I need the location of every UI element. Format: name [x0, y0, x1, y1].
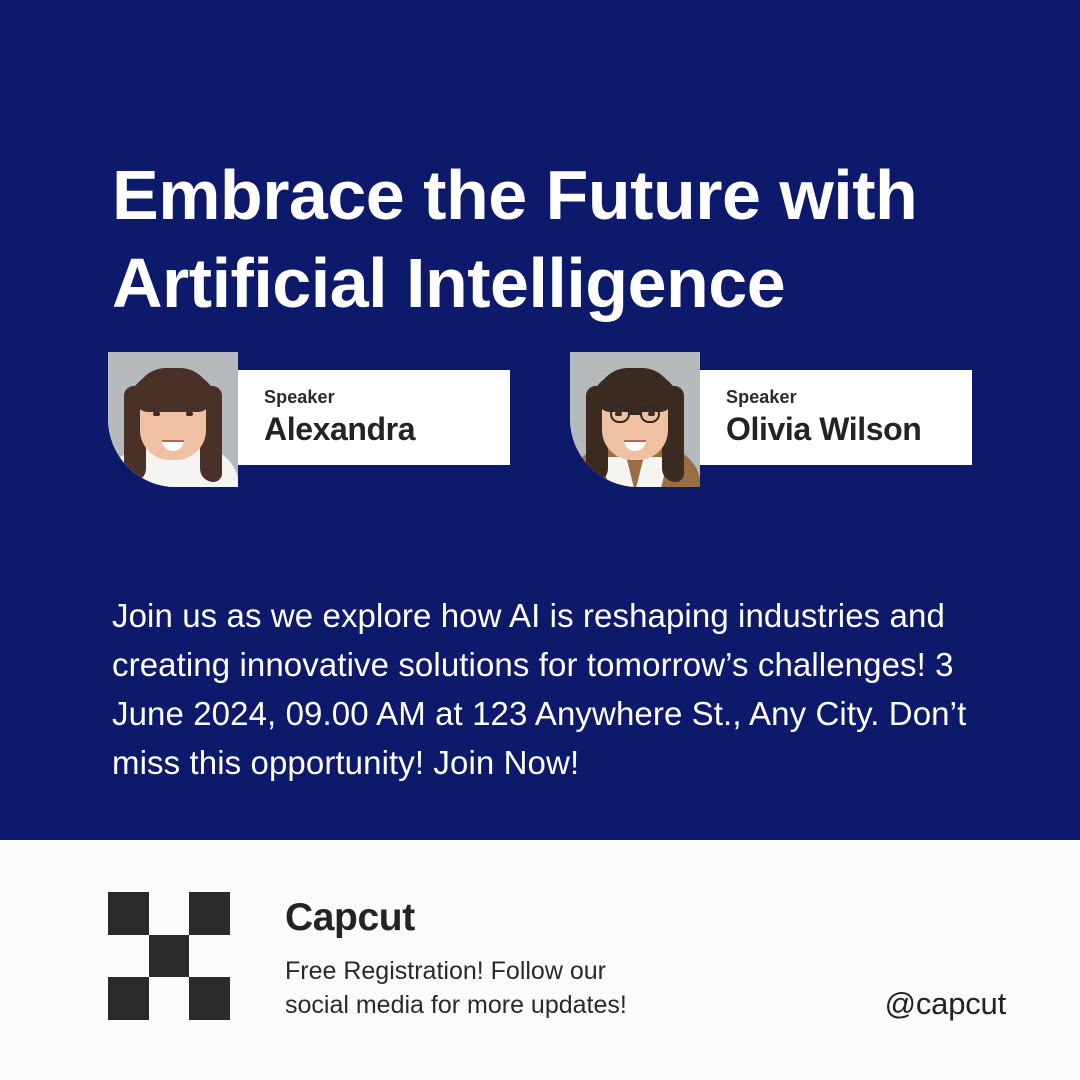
- logo-cell: [108, 977, 149, 1020]
- logo-cell: [189, 977, 230, 1020]
- logo-cell: [189, 935, 230, 978]
- logo-cell: [149, 935, 190, 978]
- speaker-name: Olivia Wilson: [726, 409, 972, 449]
- logo-cell: [149, 977, 190, 1020]
- social-handle[interactable]: @capcut: [885, 985, 1006, 1023]
- logo-cell: [108, 935, 149, 978]
- speaker-name: Alexandra: [264, 409, 510, 449]
- registration-tagline: Free Registration! Follow our social med…: [285, 954, 765, 1022]
- logo-cell: [108, 892, 149, 935]
- glasses-icon: [640, 405, 660, 423]
- portrait-eye-left: [153, 412, 160, 416]
- brand-name: Capcut: [285, 894, 765, 942]
- speaker-card[interactable]: Speaker Olivia Wilson: [570, 352, 972, 488]
- logo-cell: [149, 892, 190, 935]
- portrait-hair-top: [597, 368, 673, 412]
- logo-cell: [189, 892, 230, 935]
- speaker-role-label: Speaker: [726, 386, 972, 408]
- event-poster: Embrace the Future with Artificial Intel…: [0, 0, 1080, 1080]
- speaker-portrait: [108, 352, 238, 487]
- speaker-role-label: Speaker: [264, 386, 510, 408]
- hero-section: Embrace the Future with Artificial Intel…: [0, 0, 1080, 840]
- speaker-card[interactable]: Speaker Alexandra: [108, 352, 510, 488]
- glasses-bridge: [630, 412, 640, 415]
- portrait-hair-top: [135, 368, 211, 412]
- portrait-eye-right: [186, 412, 193, 416]
- glasses-icon: [610, 405, 630, 423]
- speaker-portrait: [570, 352, 700, 487]
- checkerboard-logo-icon: [108, 892, 230, 1020]
- speaker-nameplate: Speaker Olivia Wilson: [700, 370, 972, 465]
- brand-block: Capcut Free Registration! Follow our soc…: [285, 894, 765, 1022]
- event-description: Join us as we explore how AI is reshapin…: [112, 591, 992, 787]
- speaker-list: Speaker Alexandra: [108, 352, 988, 488]
- speaker-nameplate: Speaker Alexandra: [238, 370, 510, 465]
- page-title: Embrace the Future with Artificial Intel…: [112, 151, 1012, 327]
